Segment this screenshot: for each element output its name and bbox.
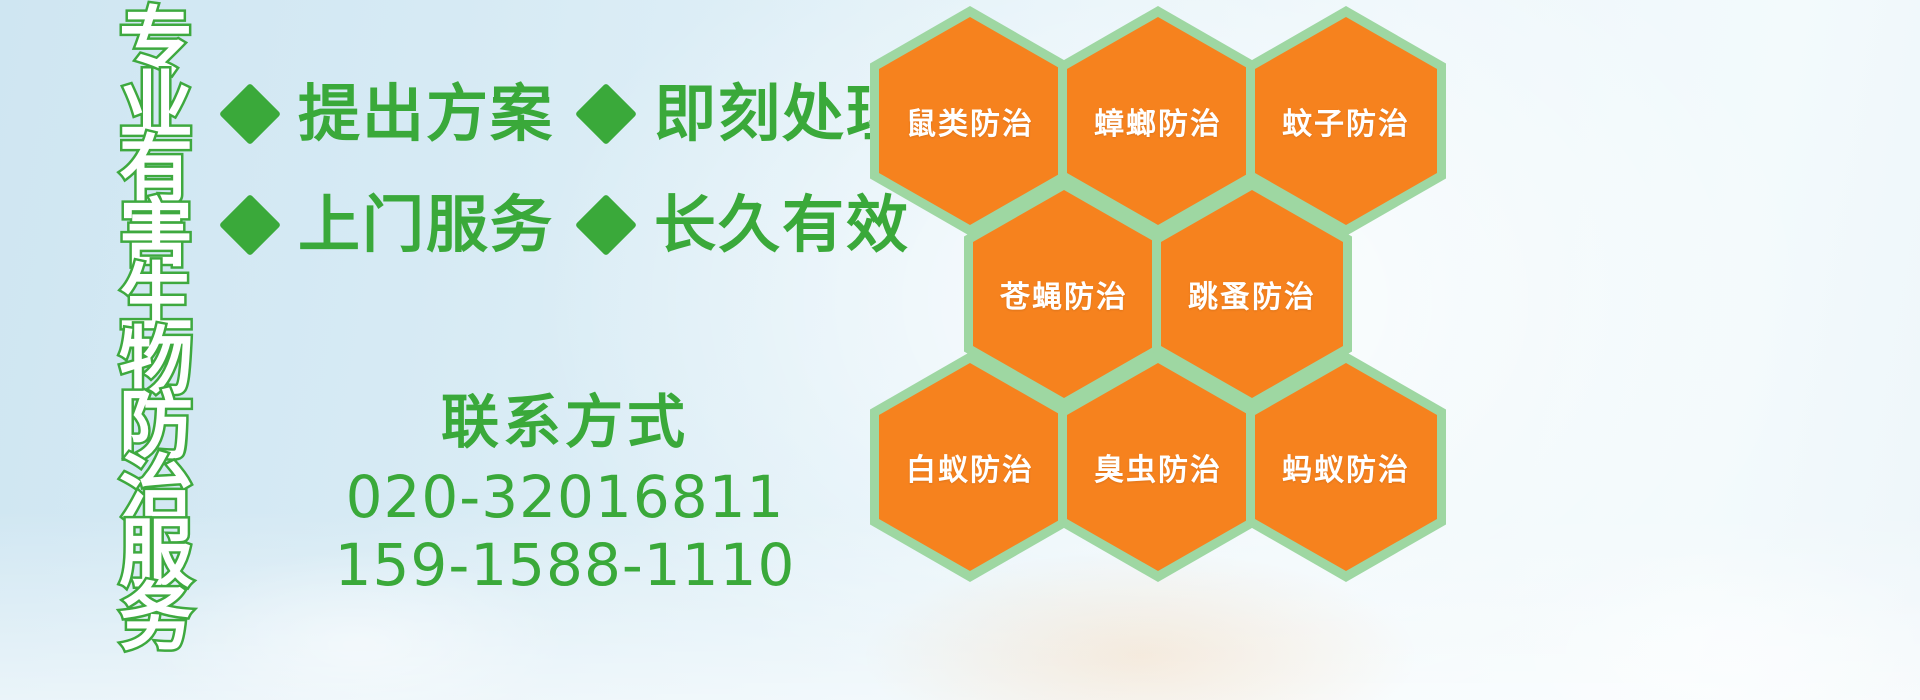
hex-label: 蚂蚁防治 bbox=[1282, 445, 1410, 489]
feature-label: 提出方案 bbox=[298, 83, 554, 145]
hex-cell-ant-control[interactable]: 蚂蚁防治 bbox=[1246, 352, 1446, 582]
feature-row-two: 上门服务 长久有效 bbox=[228, 194, 910, 256]
diamond-bullet-icon bbox=[575, 83, 637, 145]
vertical-slogan: 专 业 有 害 生 物 防 治 服 务 bbox=[104, 8, 208, 648]
hex-cell-termite-control[interactable]: 白蚁防治 bbox=[870, 352, 1070, 582]
feature-label: 上门服务 bbox=[298, 194, 554, 256]
diamond-bullet-icon bbox=[575, 194, 637, 256]
contact-title: 联系方式 bbox=[300, 392, 830, 453]
feature-item-onsite-service: 上门服务 bbox=[228, 194, 554, 256]
background-blob-right bbox=[1500, 540, 1920, 700]
diamond-bullet-icon bbox=[219, 194, 281, 256]
hex-label: 白蚁防治 bbox=[906, 445, 1034, 489]
diamond-bullet-icon bbox=[219, 83, 281, 145]
hex-label: 跳蚤防治 bbox=[1188, 272, 1316, 316]
contact-phone-landline[interactable]: 020-32016811 bbox=[300, 463, 830, 531]
hex-label: 臭虫防治 bbox=[1094, 445, 1222, 489]
vertical-slogan-char: 务 bbox=[119, 584, 193, 648]
hex-label: 蚊子防治 bbox=[1282, 99, 1410, 143]
feature-item-propose-plan: 提出方案 bbox=[228, 83, 554, 145]
feature-row-one: 提出方案 即刻处理 bbox=[228, 83, 910, 145]
hex-label: 鼠类防治 bbox=[906, 99, 1034, 143]
service-honeycomb: 鼠类防治 蟑螂防治 蚊子防治 苍蝇防治 跳蚤防治 bbox=[856, 0, 1456, 554]
contact-block: 联系方式 020-32016811 159-1588-1110 bbox=[300, 392, 830, 600]
hex-label: 蟑螂防治 bbox=[1094, 99, 1222, 143]
pest-control-banner: 专 业 有 害 生 物 防 治 服 务 提出方案 即刻处理 上门服务 长久有效 bbox=[0, 0, 1920, 700]
contact-phone-mobile[interactable]: 159-1588-1110 bbox=[300, 531, 830, 599]
hex-cell-bedbug-control[interactable]: 臭虫防治 bbox=[1058, 352, 1258, 582]
hex-label: 苍蝇防治 bbox=[1000, 272, 1128, 316]
